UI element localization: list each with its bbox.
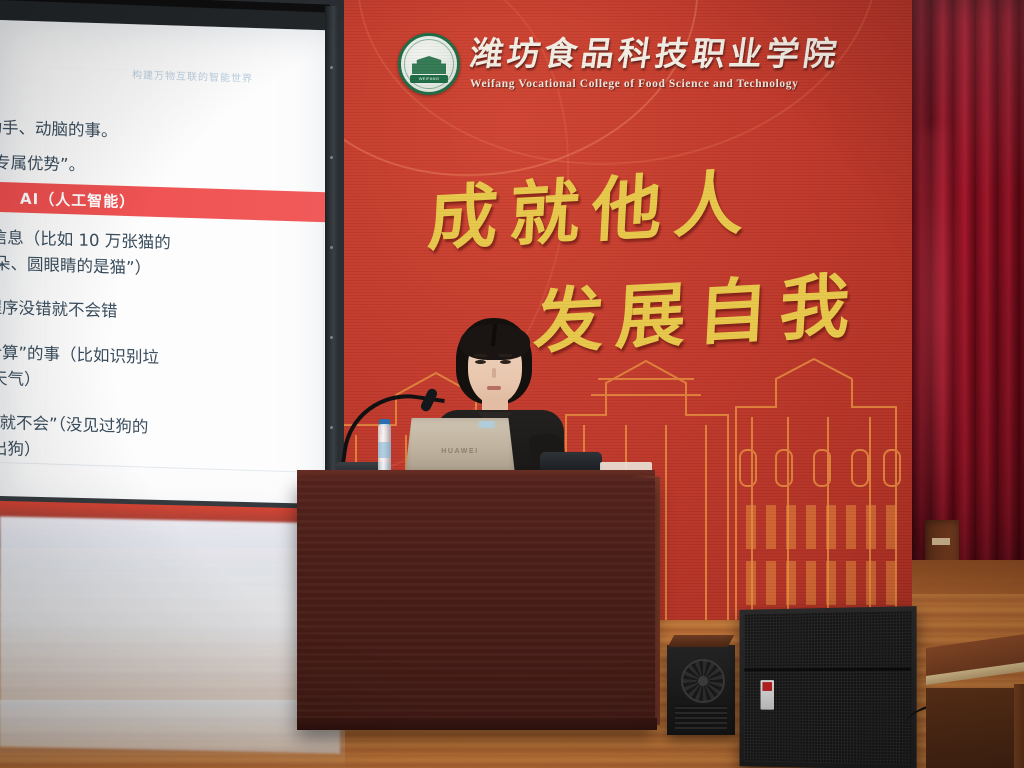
college-name-cn: 潍坊食品科技职业学院 bbox=[468, 39, 843, 72]
door-plate bbox=[932, 538, 950, 545]
fan-grille-icon bbox=[681, 659, 725, 703]
amplifier-top bbox=[668, 635, 734, 647]
emblem-building-icon bbox=[412, 56, 446, 74]
banner-slogan-line2: 发展自我 bbox=[532, 249, 865, 368]
screen-side-rail bbox=[325, 6, 339, 526]
slide-section-title: AI（人工智能） bbox=[20, 187, 135, 212]
rail-screw bbox=[330, 426, 333, 429]
screen-surface: 构建万物互联的智能世界 们做原本需要人动手、动脑的事。 像，但又有“机器专属优势… bbox=[0, 20, 326, 520]
laptop-lid bbox=[405, 418, 515, 474]
college-name-en: Weifang Vocational College of Food Scien… bbox=[470, 78, 840, 90]
stage-monitor-speaker bbox=[739, 606, 916, 768]
banner-swoosh-arc bbox=[336, 0, 730, 214]
presenter-nose bbox=[492, 368, 496, 378]
presenter-eye bbox=[475, 360, 486, 364]
emblem-band-text: WEIFANG bbox=[410, 75, 448, 83]
rail-screw bbox=[330, 246, 333, 249]
slide-body-line: 照片，就认不出狗） bbox=[0, 432, 41, 461]
amplifier-vent-slots bbox=[675, 705, 727, 729]
emblem-band: WEIFANG bbox=[410, 75, 448, 83]
step-front-face bbox=[926, 688, 1024, 768]
slide-body-line: 圾类型、预测天气） bbox=[0, 362, 41, 391]
slide-body-line: 像，但又有“机器专属优势”。 bbox=[0, 145, 85, 176]
college-logo-row: WEIFANG 潍坊食品科技职业学院 Weifang Vocational Co… bbox=[398, 18, 898, 110]
wooden-step-box bbox=[926, 648, 1024, 768]
slide-body-line: 们做原本需要人动手、动脑的事。 bbox=[0, 110, 118, 142]
podium-base bbox=[297, 718, 657, 730]
emblem-ring bbox=[404, 39, 454, 89]
bottle-label bbox=[378, 442, 391, 458]
rail-screw bbox=[330, 156, 333, 159]
projector-light-fade bbox=[0, 700, 345, 768]
photo-scene: WEIFANG 潍坊食品科技职业学院 Weifang Vocational Co… bbox=[0, 0, 1024, 768]
laptop-sticker bbox=[479, 421, 495, 428]
laptop-brand-label: HUAWEI bbox=[405, 448, 515, 455]
presentation-slide: 构建万物互联的智能世界 们做原本需要人动手、动脑的事。 像，但又有“机器专属优势… bbox=[0, 50, 326, 494]
slide-header-text: 构建万物互联的智能世界 bbox=[132, 66, 253, 85]
college-emblem-icon: WEIFANG bbox=[398, 33, 460, 95]
banner-swoosh-arc bbox=[337, 0, 899, 190]
projection-screen: 构建万物互联的智能世界 们做原本需要人动手、动脑的事。 像，但又有“机器专属优势… bbox=[0, 0, 344, 548]
presenter-eye bbox=[500, 360, 511, 364]
speaker-badge bbox=[761, 680, 774, 710]
rail-screw bbox=[330, 66, 333, 69]
rail-screw bbox=[330, 336, 333, 339]
presenter-eyebrow bbox=[499, 354, 512, 357]
presenter-eyebrow bbox=[474, 354, 487, 357]
lectern-podium bbox=[297, 478, 655, 728]
college-name-block: 潍坊食品科技职业学院 Weifang Vocational College of… bbox=[470, 39, 840, 90]
step-side-face bbox=[1014, 684, 1024, 768]
curtain-highlight bbox=[915, 130, 961, 560]
small-amplifier-box bbox=[667, 645, 735, 735]
presenter-mouth bbox=[487, 386, 501, 390]
laptop: HUAWEI bbox=[405, 418, 515, 478]
banner-slogan-line1: 成就他人 bbox=[426, 146, 759, 265]
badge-mark bbox=[762, 682, 772, 691]
